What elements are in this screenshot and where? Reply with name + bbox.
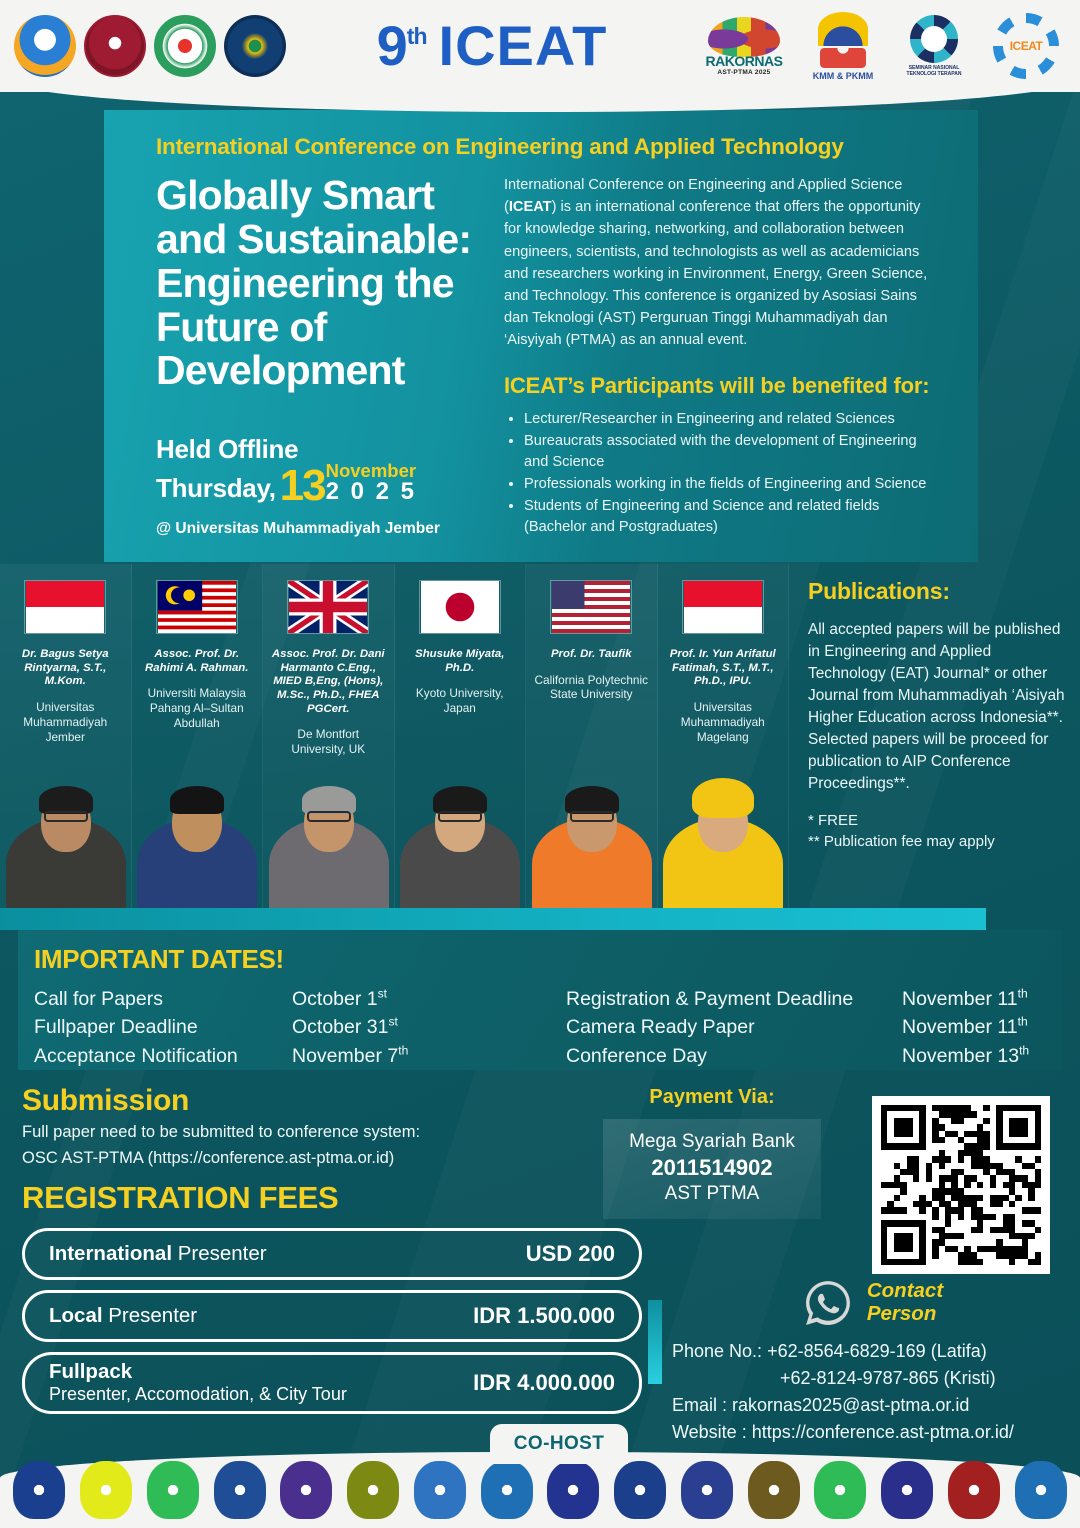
cohost-logo-emblem xyxy=(892,1475,922,1505)
cohost-logo-emblem xyxy=(358,1475,388,1505)
cohost-logo-emblem xyxy=(825,1475,855,1505)
contact-section: Contact Person Phone No.: +62-8564-6829-… xyxy=(672,1276,1072,1446)
fee-accent-bar xyxy=(648,1300,662,1384)
event-weekday: Thursday, xyxy=(156,473,276,504)
benefits-list: Lecturer/Researcher in Engineering and r… xyxy=(504,409,938,537)
hero-right-column: International Conference on Engineering … xyxy=(504,174,974,539)
event-day-number: 13 xyxy=(280,468,325,504)
cohost-logo-emblem xyxy=(225,1475,255,1505)
date-row: Conference Day November 13th xyxy=(566,1042,1046,1070)
contact-email[interactable]: Email : rakornas2025@ast-ptma.or.id xyxy=(672,1392,1072,1419)
event-year: 2 0 2 5 xyxy=(326,480,417,504)
rakornas-mask-icon xyxy=(708,17,780,57)
diktisaintek-berdampak-logo xyxy=(14,15,76,77)
cohost-logo-emblem xyxy=(1026,1475,1056,1505)
speaker-photo-dani xyxy=(263,776,395,910)
cohost-logo-emblem xyxy=(759,1475,789,1505)
contact-phone-2: +62-8124-9787-865 (Kristi) xyxy=(672,1365,1072,1392)
iceat-gear-logo: ICEAT xyxy=(986,10,1066,82)
publications-section: Publications: All accepted papers will b… xyxy=(808,578,1070,853)
contact-heading-line-1: Contact xyxy=(867,1280,943,1303)
title-line-2: and Sustainable: xyxy=(156,216,471,262)
speaker-name: Assoc. Prof. Dr. Rahimi A. Rahman. xyxy=(139,648,256,675)
edition-suffix: th xyxy=(407,25,427,48)
cohost-logo-emblem xyxy=(959,1475,989,1505)
snt-title: SEMINAR NASIONAL TEKNOLOGI TERAPAN xyxy=(896,66,972,77)
speaker-card: Prof. Dr. Taufik California Polytechnic … xyxy=(526,564,658,910)
description-acronym: ICEAT xyxy=(509,199,552,215)
fee-amount: IDR 1.500.000 xyxy=(473,1303,615,1329)
date-value: October 31st xyxy=(292,1013,398,1041)
date-row: Registration & Payment Deadline November… xyxy=(566,985,1046,1013)
teal-divider-bar xyxy=(0,908,986,930)
cohost-logo-4 xyxy=(214,1461,266,1519)
cohost-logo-emblem xyxy=(291,1475,321,1505)
date-label: Conference Day xyxy=(566,1042,902,1070)
dates-left-column: Call for Papers October 1st Fullpaper De… xyxy=(34,985,540,1070)
speaker-affiliation: Kyoto University, Japan xyxy=(402,686,519,715)
cohost-logo-9 xyxy=(547,1461,599,1519)
benefit-item: Lecturer/Researcher in Engineering and r… xyxy=(524,409,938,430)
kmm-title: KMM & PKMM xyxy=(813,71,874,81)
hero-panel: International Conference on Engineering … xyxy=(104,110,978,562)
header-logo-bar: 9 th ICEAT RAKORNAS AST-PTMA 2025 KMM & … xyxy=(0,0,1080,92)
submission-section: Submission Full paper need to be submitt… xyxy=(22,1084,662,1170)
rakornas-subtitle: AST-PTMA 2025 xyxy=(717,69,770,76)
cohost-logo-2 xyxy=(80,1461,132,1519)
date-label: Acceptance Notification xyxy=(34,1042,292,1070)
conference-poster: 9 th ICEAT RAKORNAS AST-PTMA 2025 KMM & … xyxy=(0,0,1080,1528)
cohost-logo-emblem xyxy=(24,1475,54,1505)
poster-theme-title: Globally Smart and Sustainable: Engineer… xyxy=(156,174,504,393)
benefits-heading: ICEAT’s Participants will be benefited f… xyxy=(504,373,938,399)
payment-account-name: AST PTMA xyxy=(609,1183,815,1205)
speaker-affiliation: Universiti Malaysia Pahang Al–Sultan Abd… xyxy=(139,686,256,730)
contact-website[interactable]: Website : https://conference.ast-ptma.or… xyxy=(672,1419,1072,1446)
kmm-gear-icon xyxy=(820,48,866,68)
united-kingdom-flag xyxy=(287,580,369,634)
conference-full-name: International Conference on Engineering … xyxy=(156,134,978,160)
date-value: November 13th xyxy=(902,1042,1029,1070)
rakornas-logo: RAKORNAS AST-PTMA 2025 xyxy=(698,10,790,82)
description-part-2: ) is an international conference that of… xyxy=(504,199,927,348)
cohost-logo-11 xyxy=(681,1461,733,1519)
speaker-name: Dr. Bagus Setya Rintyarna, S.T., M.Kom. xyxy=(7,648,124,689)
rakornas-title: RAKORNAS xyxy=(706,53,783,69)
cohost-logo-emblem xyxy=(692,1475,722,1505)
payment-heading: Payment Via: xyxy=(572,1086,852,1109)
cohost-logo-emblem xyxy=(492,1475,522,1505)
fee-name: FullpackPresenter, Accomodation, & City … xyxy=(49,1361,347,1404)
publications-note-free: * FREE xyxy=(808,811,1070,832)
date-label: Fullpaper Deadline xyxy=(34,1013,292,1041)
indonesia-flag xyxy=(24,580,106,634)
registration-fees-list: International Presenter USD 200 Local Pr… xyxy=(22,1228,642,1424)
benefit-item: Professionals working in the fields of E… xyxy=(524,474,938,495)
speaker-card: Prof. Ir. Yun Arifatul Fatimah, S.T., M.… xyxy=(658,564,790,910)
date-value: November 11th xyxy=(902,985,1028,1013)
fee-name: International Presenter xyxy=(49,1243,267,1266)
publications-heading: Publications: xyxy=(808,578,1070,605)
speaker-affiliation: Universitas Muhammadiyah Magelang xyxy=(665,700,782,744)
speaker-card: Assoc. Prof. Dr. Rahimi A. Rahman. Unive… xyxy=(132,564,264,910)
speaker-name: Prof. Ir. Yun Arifatul Fatimah, S.T., M.… xyxy=(665,648,782,689)
cohost-logo-15 xyxy=(948,1461,1000,1519)
cohost-logo-emblem xyxy=(425,1475,455,1505)
title-line-4: Future of xyxy=(156,304,326,350)
conference-acronym: ICEAT xyxy=(439,21,608,71)
event-venue: @ Universitas Muhammadiyah Jember xyxy=(156,520,504,538)
cohost-tab: CO-HOST xyxy=(490,1424,628,1464)
date-row: Camera Ready Paper November 11th xyxy=(566,1013,1046,1041)
speaker-affiliation: Universitas Muhammadiyah Jember xyxy=(7,700,124,744)
universitas-muhammadiyah-jember-logo xyxy=(224,15,286,77)
dates-right-column: Registration & Payment Deadline November… xyxy=(540,985,1046,1070)
iceat-logo-text: ICEAT xyxy=(1010,39,1043,53)
date-label: Camera Ready Paper xyxy=(566,1013,902,1041)
edition-number: 9 xyxy=(377,21,407,71)
fee-amount: USD 200 xyxy=(526,1241,615,1267)
cohost-logo-13 xyxy=(814,1461,866,1519)
indonesia-flag xyxy=(682,580,764,634)
benefit-item: Students of Engineering and Science and … xyxy=(524,496,938,538)
united-states-flag xyxy=(550,580,632,634)
registration-qr-code[interactable] xyxy=(872,1096,1050,1274)
speaker-card: Shusuke Miyata, Ph.D. Kyoto University, … xyxy=(395,564,527,910)
date-value: October 1st xyxy=(292,985,387,1013)
iceat-gear-icon: ICEAT xyxy=(993,13,1059,79)
speaker-name: Shusuke Miyata, Ph.D. xyxy=(402,648,519,675)
cohost-logo-7 xyxy=(414,1461,466,1519)
edition-title: 9 th ICEAT xyxy=(377,21,608,71)
title-line-1: Globally Smart xyxy=(156,172,434,218)
speaker-card: Assoc. Prof. Dr. Dani Harmanto C.Eng., M… xyxy=(263,564,395,910)
contact-heading-line-2: Person xyxy=(867,1303,943,1326)
date-label: Registration & Payment Deadline xyxy=(566,985,902,1013)
speaker-photo-yun xyxy=(658,776,790,910)
fee-amount: IDR 4.000.000 xyxy=(473,1370,615,1396)
payment-section: Payment Via: Mega Syariah Bank 201151490… xyxy=(572,1086,852,1219)
cohost-logo-12 xyxy=(748,1461,800,1519)
speaker-affiliation: California Polytechnic State University xyxy=(533,673,650,702)
conference-description: International Conference on Engineering … xyxy=(504,174,938,351)
speaker-photo-shusuke xyxy=(395,776,527,910)
conference-name-bar: International Conference on Engineering … xyxy=(104,110,978,160)
title-line-3: Engineering the xyxy=(156,260,454,306)
malaysia-flag xyxy=(156,580,238,634)
fee-row-local[interactable]: Local Presenter IDR 1.500.000 xyxy=(22,1290,642,1342)
registration-fees-heading: REGISTRATION FEES xyxy=(22,1180,338,1216)
seminar-nasional-teknologi-terapan-logo: SEMINAR NASIONAL TEKNOLOGI TERAPAN xyxy=(896,10,972,82)
speaker-photo-rahimi xyxy=(132,776,264,910)
ast-ptma-logo xyxy=(154,15,216,77)
important-dates-heading: IMPORTANT DATES! xyxy=(34,944,1046,975)
speaker-photo-bagus xyxy=(0,776,132,910)
cohost-logo-14 xyxy=(881,1461,933,1519)
fee-row-international[interactable]: International Presenter USD 200 xyxy=(22,1228,642,1280)
publications-note-fee: ** Publication fee may apply xyxy=(808,832,1070,853)
cohost-logo-16 xyxy=(1015,1461,1067,1519)
speaker-card: Dr. Bagus Setya Rintyarna, S.T., M.Kom. … xyxy=(0,564,132,910)
date-label: Call for Papers xyxy=(34,985,292,1013)
universitas-ahmad-dahlan-logo xyxy=(13,1461,65,1519)
publications-body: All accepted papers will be published in… xyxy=(808,619,1070,795)
date-row: Acceptance Notification November 7th xyxy=(34,1042,540,1070)
speaker-affiliation: De Montfort University, UK xyxy=(270,727,387,756)
event-date: Thursday, 13 November 2 0 2 5 xyxy=(156,462,504,504)
title-line-5: Development xyxy=(156,347,405,393)
payment-details-box: Mega Syariah Bank 2011514902 AST PTMA xyxy=(603,1119,821,1219)
benefit-item: Bureaucrats associated with the developm… xyxy=(524,431,938,473)
speaker-name: Prof. Dr. Taufik xyxy=(533,648,650,662)
cohost-logo-3 xyxy=(147,1461,199,1519)
muhammadiyah-seal-logo xyxy=(84,15,146,77)
speaker-name: Assoc. Prof. Dr. Dani Harmanto C.Eng., M… xyxy=(270,648,387,716)
whatsapp-icon xyxy=(801,1276,855,1330)
submission-line-2[interactable]: OSC AST-PTMA (https://conference.ast-ptm… xyxy=(22,1147,662,1170)
date-row: Fullpaper Deadline October 31st xyxy=(34,1013,540,1041)
date-row: Call for Papers October 1st xyxy=(34,985,540,1013)
kmm-sun-icon xyxy=(818,12,868,46)
cohost-logo-emblem xyxy=(558,1475,588,1505)
date-value: November 11th xyxy=(902,1013,1028,1041)
cohost-logo-emblem xyxy=(158,1475,188,1505)
cohost-label: CO-HOST xyxy=(514,1433,604,1455)
cohost-logo-emblem xyxy=(91,1475,121,1505)
important-dates-section: IMPORTANT DATES! Call for Papers October… xyxy=(18,930,1062,1070)
cohost-logo-8 xyxy=(481,1461,533,1519)
kmm-pkmm-logo: KMM & PKMM xyxy=(804,10,882,82)
cohost-logo-emblem xyxy=(625,1475,655,1505)
speaker-photo-taufik xyxy=(526,776,658,910)
keynote-speakers-row: Dr. Bagus Setya Rintyarna, S.T., M.Kom. … xyxy=(0,564,790,910)
contact-phone-1: Phone No.: +62-8564-6829-169 (Latifa) xyxy=(672,1338,1072,1365)
snt-gear-icon xyxy=(910,15,958,63)
submission-heading: Submission xyxy=(22,1084,662,1118)
fee-row-fullpack[interactable]: FullpackPresenter, Accomodation, & City … xyxy=(22,1352,642,1414)
cohost-logo-5 xyxy=(280,1461,332,1519)
cohost-logo-10 xyxy=(614,1461,666,1519)
header-left-logos xyxy=(14,15,286,77)
header-right-logos: RAKORNAS AST-PTMA 2025 KMM & PKMM SEMINA… xyxy=(698,10,1066,82)
japan-flag xyxy=(419,580,501,634)
submission-line-1: Full paper need to be submitted to confe… xyxy=(22,1121,662,1144)
hero-left-column: Globally Smart and Sustainable: Engineer… xyxy=(104,174,504,539)
date-value: November 7th xyxy=(292,1042,408,1070)
payment-account-number: 2011514902 xyxy=(609,1155,815,1181)
cohost-logo-6 xyxy=(347,1461,399,1519)
payment-bank-name: Mega Syariah Bank xyxy=(609,1131,815,1153)
fee-name: Local Presenter xyxy=(49,1305,197,1328)
